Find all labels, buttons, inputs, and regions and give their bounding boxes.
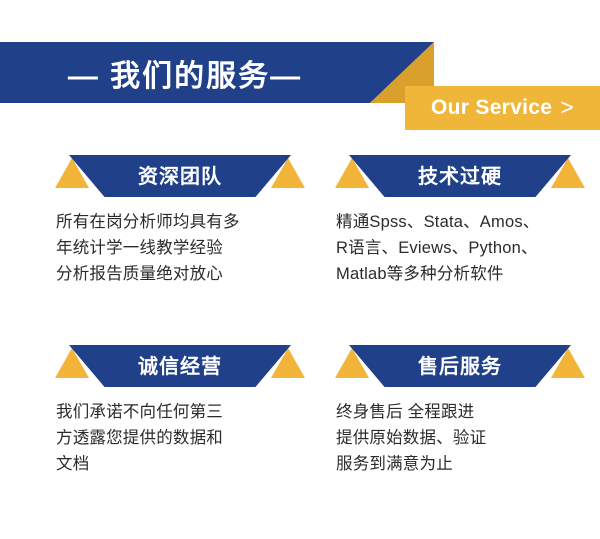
card-body: 所有在岗分析师均具有多 年统计学一线教学经验 分析报告质量绝对放心: [30, 209, 320, 287]
card-body: 终身售后 全程跟进 提供原始数据、验证 服务到满意为止: [310, 399, 600, 477]
card-body-line: 服务到满意为止: [336, 451, 600, 477]
service-card: 诚信经营 我们承诺不向任何第三 方透露您提供的数据和 文档: [30, 345, 320, 477]
card-title: 诚信经营: [138, 350, 222, 379]
card-body: 精通Spss、Stata、Amos、 R语言、Eviews、Python、 Ma…: [310, 209, 600, 287]
card-title: 售后服务: [418, 350, 502, 379]
page-header: — 我们的服务— Our Service >: [0, 0, 600, 145]
card-body-line: 分析报告质量绝对放心: [56, 261, 320, 287]
card-body-line: 终身售后 全程跟进: [336, 399, 600, 425]
card-body-line: 精通Spss、Stata、Amos、: [336, 209, 600, 235]
header-subtitle-group: Our Service >: [405, 86, 600, 130]
card-body-line: R语言、Eviews、Python、: [336, 235, 600, 261]
card-body-line: 文档: [56, 451, 320, 477]
card-banner: 资深团队: [55, 155, 305, 197]
chevron-right-icon: >: [560, 96, 574, 119]
card-body-line: 年统计学一线教学经验: [56, 235, 320, 261]
card-banner: 技术过硬: [335, 155, 585, 197]
banner-shape: 诚信经营: [69, 345, 291, 387]
card-body-line: 提供原始数据、验证: [336, 425, 600, 451]
page-title: — 我们的服务—: [0, 42, 370, 103]
service-card: 技术过硬 精通Spss、Stata、Amos、 R语言、Eviews、Pytho…: [310, 155, 600, 287]
service-card: 售后服务 终身售后 全程跟进 提供原始数据、验证 服务到满意为止: [310, 345, 600, 477]
banner-shape: 技术过硬: [349, 155, 571, 197]
header-subtitle: Our Service: [431, 96, 552, 120]
card-body-line: 方透露您提供的数据和: [56, 425, 320, 451]
card-banner: 诚信经营: [55, 345, 305, 387]
card-body-line: 所有在岗分析师均具有多: [56, 209, 320, 235]
service-card: 资深团队 所有在岗分析师均具有多 年统计学一线教学经验 分析报告质量绝对放心: [30, 155, 320, 287]
card-body-line: Matlab等多种分析软件: [336, 261, 600, 287]
banner-shape: 资深团队: [69, 155, 291, 197]
banner-shape: 售后服务: [349, 345, 571, 387]
card-title: 技术过硬: [418, 160, 502, 189]
card-title: 资深团队: [138, 160, 222, 189]
service-cards-grid: 资深团队 所有在岗分析师均具有多 年统计学一线教学经验 分析报告质量绝对放心 技…: [0, 150, 600, 539]
card-banner: 售后服务: [335, 345, 585, 387]
card-body-line: 我们承诺不向任何第三: [56, 399, 320, 425]
card-body: 我们承诺不向任何第三 方透露您提供的数据和 文档: [30, 399, 320, 477]
